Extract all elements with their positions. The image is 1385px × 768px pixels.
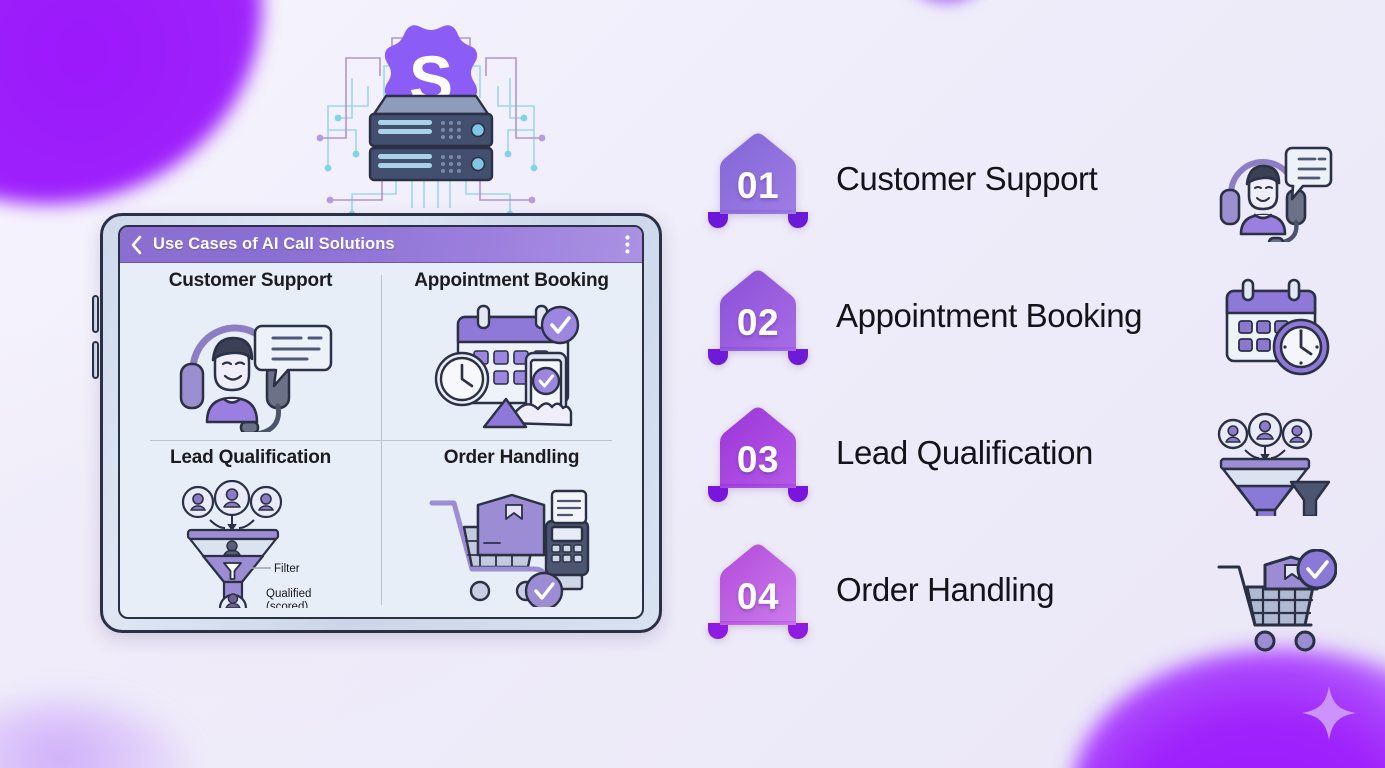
- funnel-qualified-label-2: (scored): [266, 601, 308, 608]
- step-number: 01: [706, 165, 810, 207]
- badge-wrapper: 02: [700, 269, 822, 365]
- shopping-cart-check-icon: [1213, 549, 1337, 653]
- list-item[interactable]: 02 Appointment Booking: [700, 269, 1340, 406]
- step-number: 03: [706, 439, 810, 481]
- step-number: 02: [706, 302, 810, 344]
- grid-cell-art: [120, 294, 381, 440]
- decorative-blob-bottom-left: [0, 700, 190, 768]
- server-rack-icon: [370, 96, 492, 180]
- headset-agent-chat-icon: [1215, 138, 1335, 242]
- list-item-icon: [1210, 138, 1340, 242]
- use-case-list: 01 Customer Support: [700, 132, 1340, 680]
- funnel-qualified-label-1: Qualified: [266, 588, 311, 600]
- grid-cell-appointment-booking[interactable]: Appointment Booking: [381, 263, 642, 440]
- grid-cell-order-handling[interactable]: Order Handling: [381, 440, 642, 617]
- ai-server-graphic: S: [312, 18, 550, 223]
- app-bar-title: Use Cases of AI Call Solutions: [153, 235, 615, 254]
- double-funnel-icon: [1213, 412, 1337, 516]
- calendar-clock-phone-icon: [422, 301, 602, 433]
- list-item-label: Customer Support: [836, 160, 1210, 198]
- step-badge: 03: [706, 406, 810, 502]
- step-number: 04: [706, 576, 810, 618]
- step-badge: 02: [706, 269, 810, 365]
- more-vertical-icon[interactable]: [625, 235, 630, 254]
- tablet-device: Use Cases of AI Call Solutions Customer …: [100, 213, 662, 633]
- calendar-clock-icon: [1215, 275, 1335, 379]
- grid-cell-title: Order Handling: [444, 447, 580, 469]
- grid-cell-customer-support[interactable]: Customer Support: [120, 263, 381, 440]
- use-case-grid: Customer Support: [120, 263, 642, 617]
- decorative-blob-top-left: [0, 0, 262, 204]
- list-item-label: Appointment Booking: [836, 297, 1210, 335]
- list-item-label: Lead Qualification: [836, 434, 1210, 472]
- badge-wrapper: 04: [700, 543, 822, 639]
- list-item[interactable]: 01 Customer Support: [700, 132, 1340, 269]
- list-item[interactable]: 03 Lead Qualification: [700, 406, 1340, 543]
- list-item[interactable]: 04 Order Handling: [700, 543, 1340, 680]
- decorative-blob-top-right: [897, 0, 996, 3]
- badge-wrapper: 01: [700, 132, 822, 228]
- cart-box-pos-icon: [422, 481, 602, 607]
- lead-funnel-icon: Filter Qualified (scored): [158, 480, 344, 608]
- list-item-icon: [1210, 549, 1340, 653]
- grid-cell-art: [381, 294, 642, 440]
- grid-cell-lead-qualification[interactable]: Lead Qualification: [120, 440, 381, 617]
- app-bar: Use Cases of AI Call Solutions: [120, 227, 642, 263]
- list-item-icon: [1210, 275, 1340, 379]
- list-item-icon: [1210, 412, 1340, 516]
- grid-cell-art: [381, 471, 642, 617]
- four-point-sparkle-icon: [1300, 683, 1358, 743]
- list-item-label: Order Handling: [836, 571, 1210, 609]
- tablet-volume-down-button[interactable]: [92, 341, 99, 379]
- slide-canvas: S: [0, 0, 1385, 768]
- grid-cell-title: Appointment Booking: [414, 270, 609, 292]
- step-badge: 01: [706, 132, 810, 228]
- funnel-filter-label: Filter: [274, 563, 300, 575]
- headset-agent-chat-icon: [163, 302, 339, 432]
- grid-cell-art: Filter Qualified (scored): [120, 471, 381, 617]
- tablet-volume-up-button[interactable]: [92, 295, 99, 333]
- grid-cell-title: Lead Qualification: [170, 447, 331, 469]
- step-badge: 04: [706, 543, 810, 639]
- grid-cell-title: Customer Support: [169, 270, 333, 292]
- chevron-left-icon[interactable]: [130, 235, 143, 255]
- tablet-screen: Use Cases of AI Call Solutions Customer …: [118, 225, 644, 619]
- badge-wrapper: 03: [700, 406, 822, 502]
